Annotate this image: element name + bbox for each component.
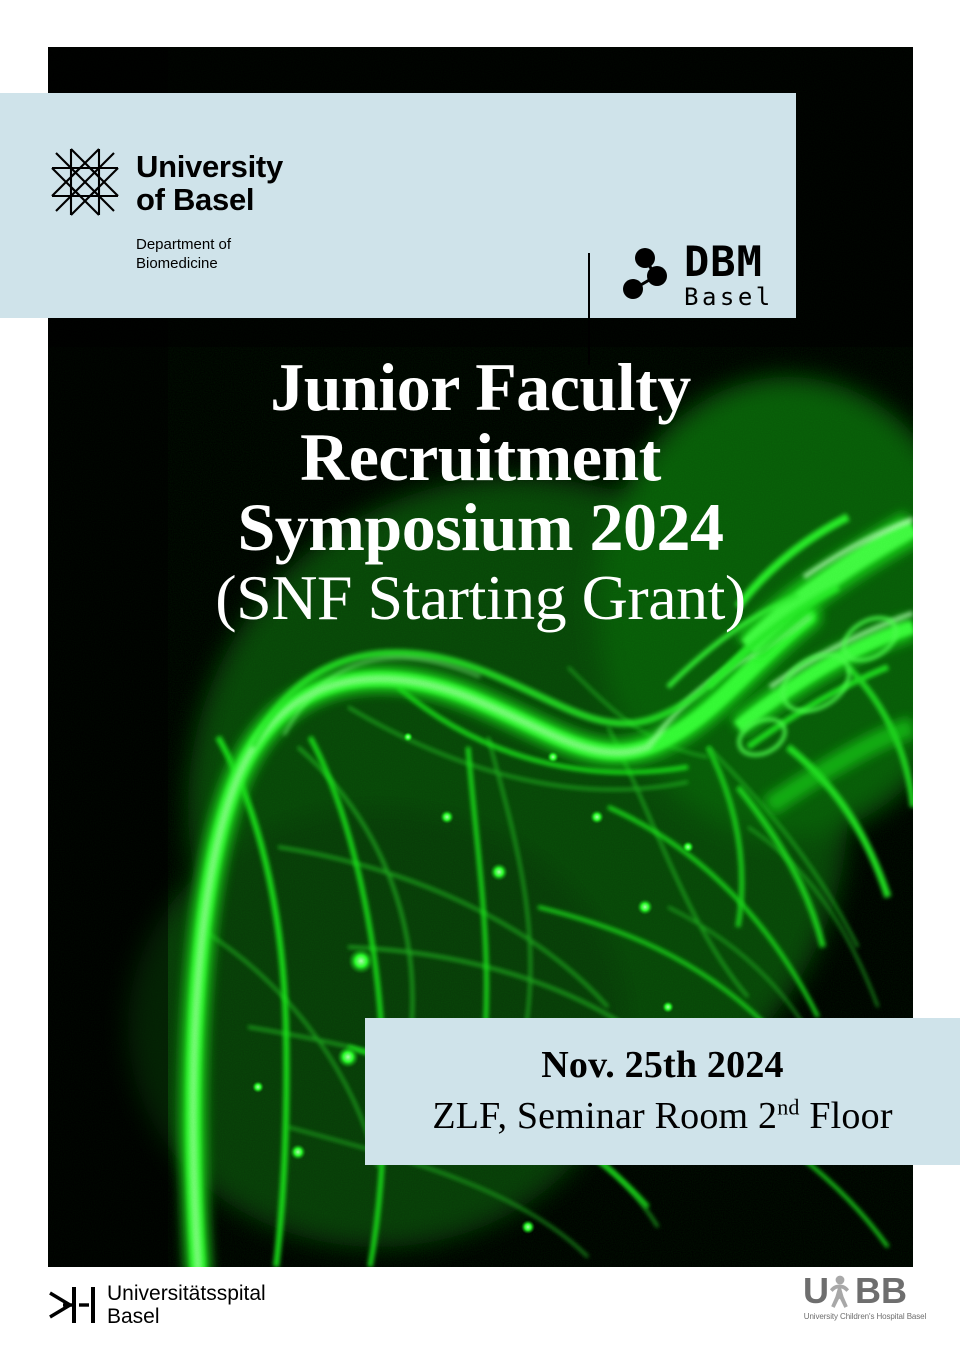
- hospital-name: Universitätsspital Basel: [107, 1282, 266, 1328]
- venue-prefix: ZLF, Seminar Room 2: [432, 1095, 777, 1137]
- hospital-logo: Universitätsspital Basel: [48, 1282, 266, 1328]
- dbm-wordmark: DBM Basel: [684, 241, 774, 309]
- usb-cross-icon: [48, 1285, 100, 1325]
- venue-ordinal: nd: [777, 1094, 799, 1119]
- event-venue: ZLF, Seminar Room 2nd Floor: [365, 1092, 960, 1141]
- title-line-2: Recruitment: [48, 422, 913, 492]
- university-name: University of Basel: [136, 145, 283, 216]
- poster-title: Junior Faculty Recruitment Symposium 202…: [48, 352, 913, 634]
- title-line-3: Symposium 2024: [48, 492, 913, 562]
- university-department: Department of Biomedicine: [136, 236, 231, 274]
- child-figure-icon: [830, 1276, 849, 1308]
- ukbb-acronym-icon: U BB: [803, 1272, 928, 1310]
- poster-canvas: University of Basel Department of Biomed…: [0, 0, 960, 1362]
- svg-text:U: U: [803, 1272, 829, 1310]
- event-details-box: Nov. 25th 2024 ZLF, Seminar Room 2nd Flo…: [365, 1018, 960, 1165]
- dbm-logo: DBM Basel: [618, 241, 774, 309]
- svg-text:BB: BB: [855, 1272, 907, 1310]
- dbm-city: Basel: [684, 285, 774, 309]
- university-logo: University of Basel: [48, 145, 283, 219]
- childrens-hospital-logo: U BB University Children's Hospital Base…: [795, 1272, 935, 1321]
- dbm-molecule-icon: [618, 244, 680, 306]
- title-line-1: Junior Faculty: [48, 352, 913, 422]
- poster-subtitle: (SNF Starting Grant): [48, 562, 913, 634]
- event-date: Nov. 25th 2024: [365, 1044, 960, 1088]
- basel-lattice-icon: [48, 145, 122, 219]
- header-band: University of Basel Department of Biomed…: [0, 93, 796, 318]
- venue-suffix: Floor: [800, 1095, 893, 1137]
- childrens-hospital-tagline: University Children's Hospital Basel: [795, 1312, 935, 1321]
- dbm-acronym: DBM: [684, 241, 774, 283]
